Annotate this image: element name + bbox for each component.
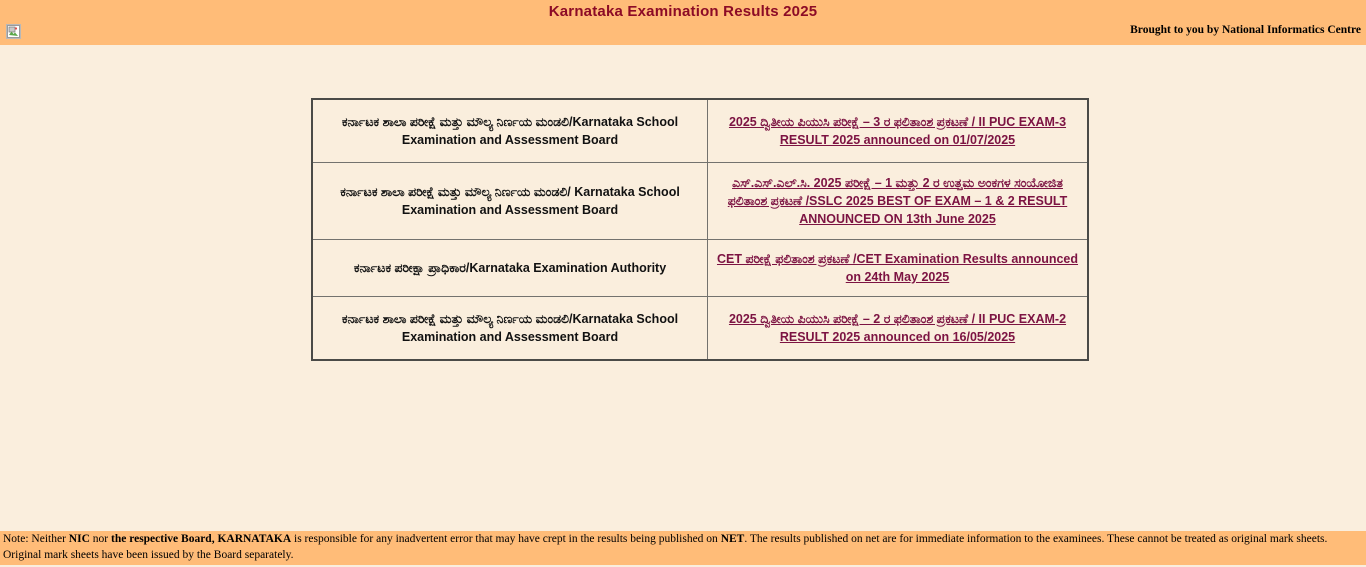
result-link[interactable]: 2025 ದ್ವಿತೀಯ ಪಿಯುಸಿ ಪರೀಕ್ಷೆ – 2 ರ ಫಲಿತಾಂ… xyxy=(716,310,1079,346)
board-name-cell: ಕರ್ನಾಟಕ ಶಾಲಾ ಪರೀಕ್ಷೆ ಮತ್ತು ಮೌಲ್ಯ ನಿರ್ಣಯ … xyxy=(312,99,708,163)
nic-credit-text: Brought to you by National Informatics C… xyxy=(1130,24,1361,36)
table-row: ಕರ್ನಾಟಕ ಪರೀಕ್ಷಾ ಪ್ರಾಧಿಕಾರ/Karnataka Exam… xyxy=(312,240,1088,297)
broken-image-icon xyxy=(6,24,21,39)
result-link-cell[interactable]: 2025 ದ್ವಿತೀಯ ಪಿಯುಸಿ ಪರೀಕ್ಷೆ – 3 ರ ಫಲಿತಾಂ… xyxy=(708,99,1089,163)
results-table-body: ಕರ್ನಾಟಕ ಶಾಲಾ ಪರೀಕ್ಷೆ ಮತ್ತು ಮೌಲ್ಯ ನಿರ್ಣಯ … xyxy=(312,99,1088,360)
board-name-cell: ಕರ್ನಾಟಕ ಶಾಲಾ ಪರೀಕ್ಷೆ ಮತ್ತು ಮೌಲ್ಯ ನಿರ್ಣಯ … xyxy=(312,163,708,240)
table-row: ಕರ್ನಾಟಕ ಶಾಲಾ ಪರೀಕ್ಷೆ ಮತ್ತು ಮೌಲ್ಯ ನಿರ್ಣಯ … xyxy=(312,163,1088,240)
result-link[interactable]: 2025 ದ್ವಿತೀಯ ಪಿಯುಸಿ ಪರೀಕ್ಷೆ – 3 ರ ಫಲಿತಾಂ… xyxy=(716,113,1079,149)
board-name-cell: ಕರ್ನಾಟಕ ಶಾಲಾ ಪರೀಕ್ಷೆ ಮತ್ತು ಮೌಲ್ಯ ನಿರ್ಣಯ … xyxy=(312,297,708,361)
result-link-cell[interactable]: CET ಪರೀಕ್ಷೆ ಫಲಿತಾಂಶ ಪ್ರಕಟಣೆ /CET Examina… xyxy=(708,240,1089,297)
table-row: ಕರ್ನಾಟಕ ಶಾಲಾ ಪರೀಕ್ಷೆ ಮತ್ತು ಮೌಲ್ಯ ನಿರ್ಣಯ … xyxy=(312,99,1088,163)
note-prefix: Note: Neither xyxy=(3,533,69,545)
page-header-band: Karnataka Examination Results 2025 Broug… xyxy=(0,0,1366,45)
result-link-cell[interactable]: 2025 ದ್ವಿತೀಯ ಪಿಯುಸಿ ಪರೀಕ್ಷೆ – 2 ರ ಫಲಿತಾಂ… xyxy=(708,297,1089,361)
note-bold-board: the respective Board, KARNATAKA xyxy=(111,533,291,545)
result-link[interactable]: ಎಸ್.ಎಸ್.ಎಲ್.ಸಿ. 2025 ಪರೀಕ್ಷೆ – 1 ಮತ್ತು 2… xyxy=(716,174,1079,228)
page-title: Karnataka Examination Results 2025 xyxy=(0,3,1366,20)
table-row: ಕರ್ನಾಟಕ ಶಾಲಾ ಪರೀಕ್ಷೆ ಮತ್ತು ಮೌಲ್ಯ ನಿರ್ಣಯ … xyxy=(312,297,1088,361)
results-table: ಕರ್ನಾಟಕ ಶಾಲಾ ಪರೀಕ್ಷೆ ಮತ್ತು ಮೌಲ್ಯ ನಿರ್ಣಯ … xyxy=(311,98,1089,361)
note-bold-nic: NIC xyxy=(69,533,90,545)
footer-disclaimer: Note: Neither NIC nor the respective Boa… xyxy=(0,531,1366,565)
note-mid-2: is responsible for any inadvertent error… xyxy=(291,533,721,545)
result-link[interactable]: CET ಪರೀಕ್ಷೆ ಫಲಿತಾಂಶ ಪ್ರಕಟಣೆ /CET Examina… xyxy=(716,250,1079,286)
broken-image-glyph xyxy=(7,25,20,38)
note-bold-net: NET xyxy=(721,533,745,545)
result-link-cell[interactable]: ಎಸ್.ಎಸ್.ಎಲ್.ಸಿ. 2025 ಪರೀಕ್ಷೆ – 1 ಮತ್ತು 2… xyxy=(708,163,1089,240)
note-mid-1: nor xyxy=(90,533,111,545)
board-name-cell: ಕರ್ನಾಟಕ ಪರೀಕ್ಷಾ ಪ್ರಾಧಿಕಾರ/Karnataka Exam… xyxy=(312,240,708,297)
